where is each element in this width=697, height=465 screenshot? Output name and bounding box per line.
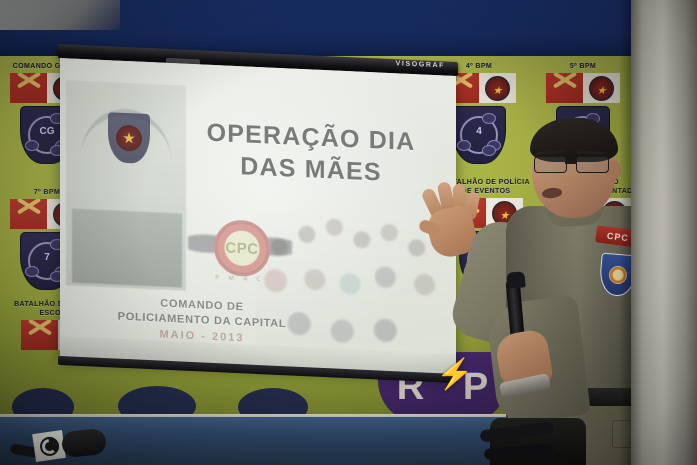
broadcaster-logo-icon xyxy=(38,435,59,456)
eyeglasses xyxy=(532,156,614,172)
microphone-head-icon xyxy=(506,271,525,289)
projection-screen: VISOGRAF ★ OPERAÇÃO DIA DAS MÃES xyxy=(58,44,458,392)
press-microphone xyxy=(10,424,120,465)
screen-brand-label: VISOGRAF xyxy=(396,60,445,69)
emblem-scroll-text: P M A L xyxy=(204,271,276,288)
ceiling-corner xyxy=(0,0,120,30)
wall-pillar xyxy=(631,0,697,465)
lens-left xyxy=(534,156,567,173)
microphone-windscreen xyxy=(61,428,107,458)
photo-scene: COMANDO GERAL CG 7º BPM 7 xyxy=(0,0,697,465)
slide-left-lower-photo xyxy=(72,209,182,288)
slide-title: OPERAÇÃO DIA DAS MÃES xyxy=(180,115,442,191)
microphone-flag xyxy=(32,430,66,462)
lens-right xyxy=(576,156,609,173)
slide-left-photo xyxy=(66,80,186,290)
emblem-text: CPC xyxy=(225,239,258,258)
screen-surface: ★ OPERAÇÃO DIA DAS MÃES CPC P M A L COMA… xyxy=(60,58,456,376)
projected-slide: ★ OPERAÇÃO DIA DAS MÃES CPC P M A L COMA… xyxy=(60,58,456,376)
star-icon: ★ xyxy=(116,125,142,152)
slide-cpc-emblem: CPC P M A L xyxy=(188,200,292,297)
lightning-bolt-icon: ⚡ xyxy=(436,360,473,390)
glasses-bridge xyxy=(565,162,576,164)
